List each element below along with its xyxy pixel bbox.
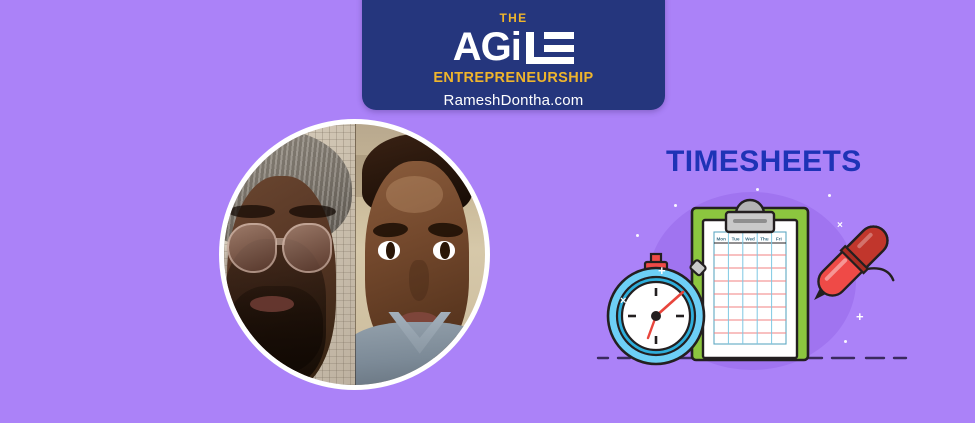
pen-clip: [868, 261, 895, 288]
avatar: [219, 119, 490, 390]
agile-wordmark-prefix: AGi: [453, 25, 521, 69]
table-outline: [714, 232, 786, 344]
agile-wordmark: AGi: [362, 25, 665, 69]
podcast-brand-card: THE AGi ENTREPRENEURSHIP RameshDontha.co…: [362, 0, 665, 110]
sparkle-dot-2: [636, 234, 639, 237]
pen-icon: [803, 219, 913, 329]
agile-le-ligature-icon: [526, 32, 574, 64]
right-eyebrow: [289, 205, 336, 218]
brand-url: RameshDontha.com: [362, 92, 665, 109]
glasses-right-lens: [282, 223, 332, 273]
stopwatch-icon: [608, 254, 707, 364]
right-portrait-left-eye: [378, 241, 400, 259]
right-portrait-photo: [355, 124, 486, 385]
sparkle-dot-1: [674, 204, 677, 207]
nose: [409, 260, 429, 302]
clipboard-icon: Mon Tue Wed Thu Fri: [692, 200, 808, 360]
sparkle-dot-5: [756, 188, 759, 191]
table-header-tue: Tue: [732, 236, 740, 241]
avatar-photo-pair: [224, 124, 485, 385]
left-eyebrow: [228, 205, 275, 218]
forehead-highlight: [386, 176, 443, 213]
photo-seam-divider: [355, 124, 356, 385]
promo-banner: THE AGi ENTREPRENEURSHIP RameshDontha.co…: [0, 0, 975, 423]
table-header-mon: Mon: [716, 236, 726, 241]
timesheet-table: Mon Tue Wed Thu Fri: [714, 232, 786, 344]
left-lips: [250, 296, 294, 312]
table-header-thu: Thu: [760, 236, 769, 241]
clipboard-clip-icon: [726, 200, 774, 232]
table-header-wed: Wed: [745, 236, 755, 241]
sparkle-dot-3: [828, 194, 831, 197]
timesheet-illustration: Mon Tue Wed Thu Fri: [596, 186, 926, 376]
table-header-fri: Fri: [776, 236, 782, 241]
left-portrait-photo: [224, 124, 355, 385]
brand-the-label: THE: [362, 12, 665, 24]
tinted-glasses-icon: [227, 223, 339, 273]
right-portrait-right-eye: [433, 241, 455, 259]
collared-shirt: [355, 322, 486, 385]
sparkle-dot-4: [844, 340, 847, 343]
page-title: TIMESHEETS: [666, 146, 862, 178]
illustration-vector: Mon Tue Wed Thu Fri: [596, 186, 926, 376]
glasses-left-lens: [227, 223, 277, 273]
brand-subtitle: ENTREPRENEURSHIP: [362, 71, 665, 86]
